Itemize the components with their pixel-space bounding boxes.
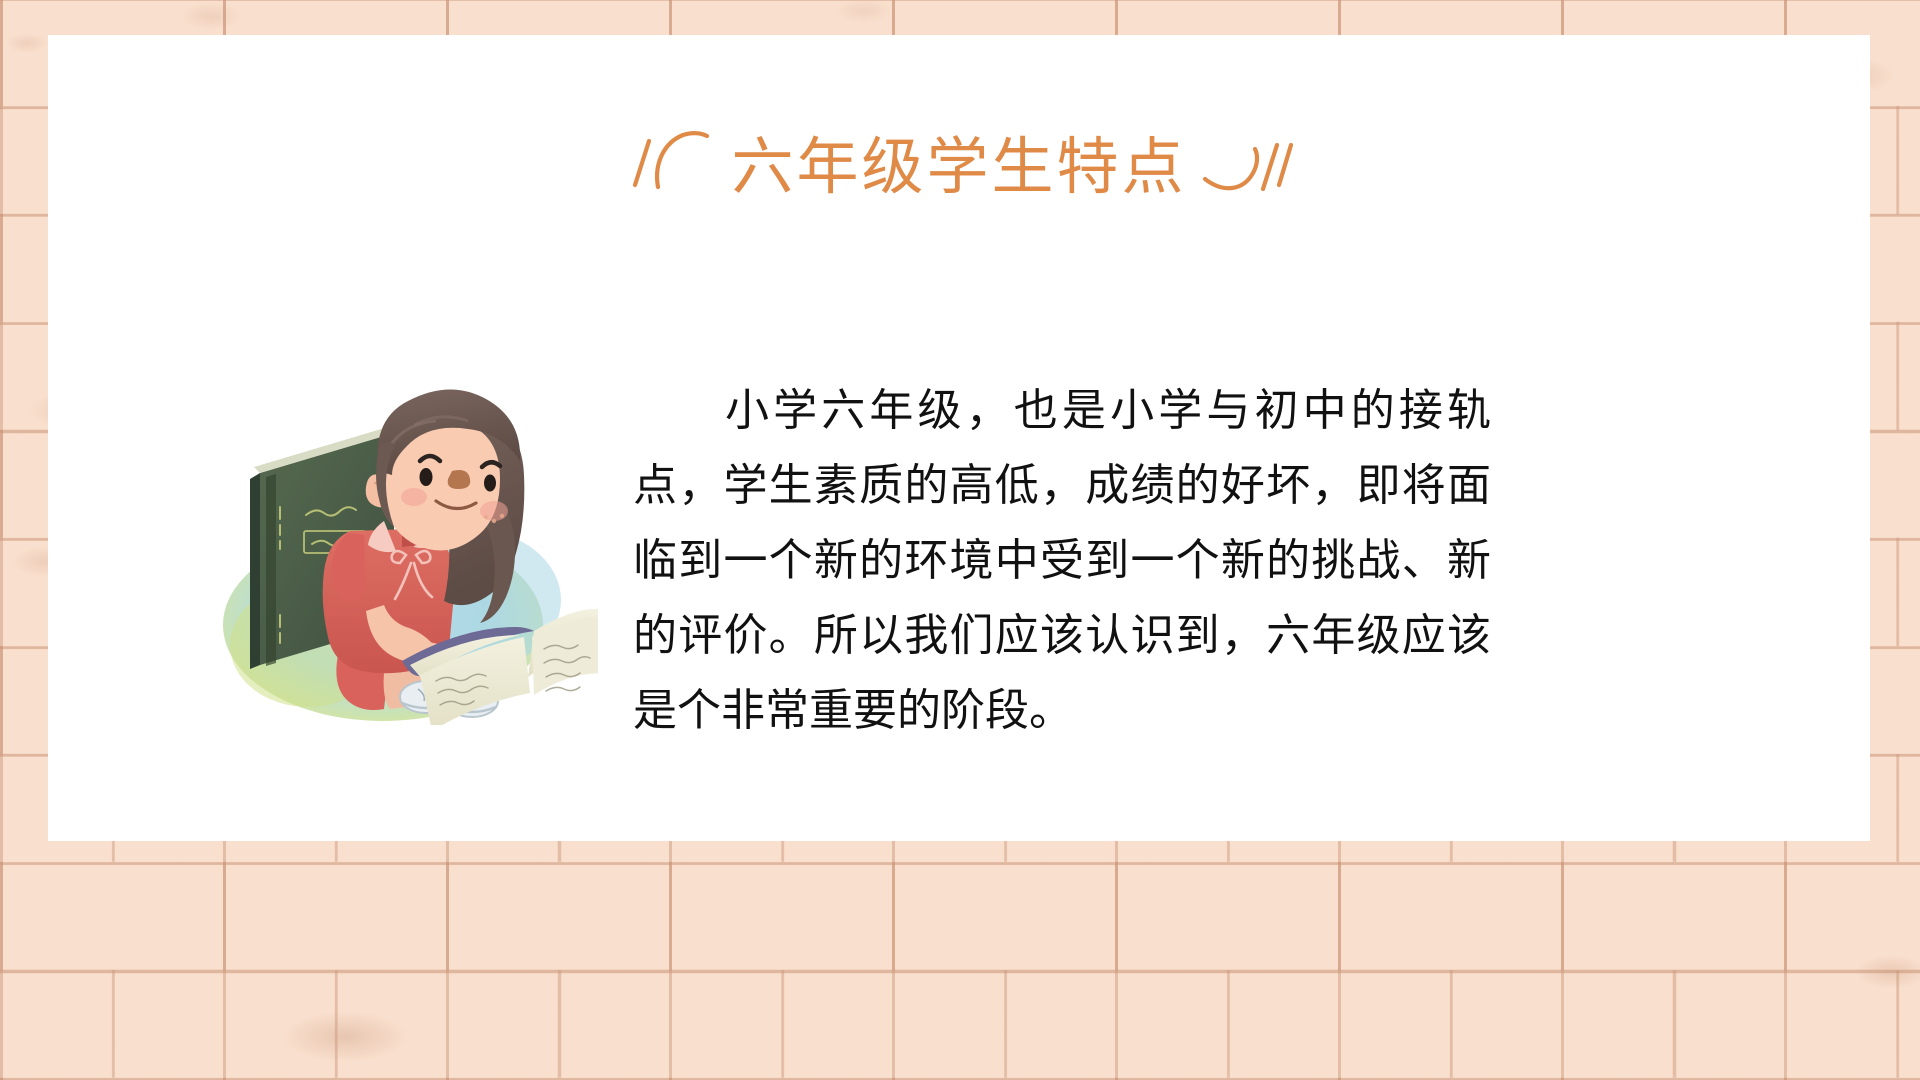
slide-card: 六年级学生特点 小学六年级，也是小学与初中的接轨点，学生素质的高低，成绩的好坏，… xyxy=(48,35,1870,841)
title-block: 六年级学生特点 xyxy=(48,123,1870,209)
girl-reading-book-illustration xyxy=(188,325,598,725)
quote-close-icon xyxy=(1201,123,1293,209)
page-title: 六年级学生特点 xyxy=(731,123,1186,199)
body-paragraph: 小学六年级，也是小学与初中的接轨点，学生素质的高低，成绩的好坏，即将面临到一个新… xyxy=(633,373,1491,748)
quote-open-icon xyxy=(625,123,717,209)
